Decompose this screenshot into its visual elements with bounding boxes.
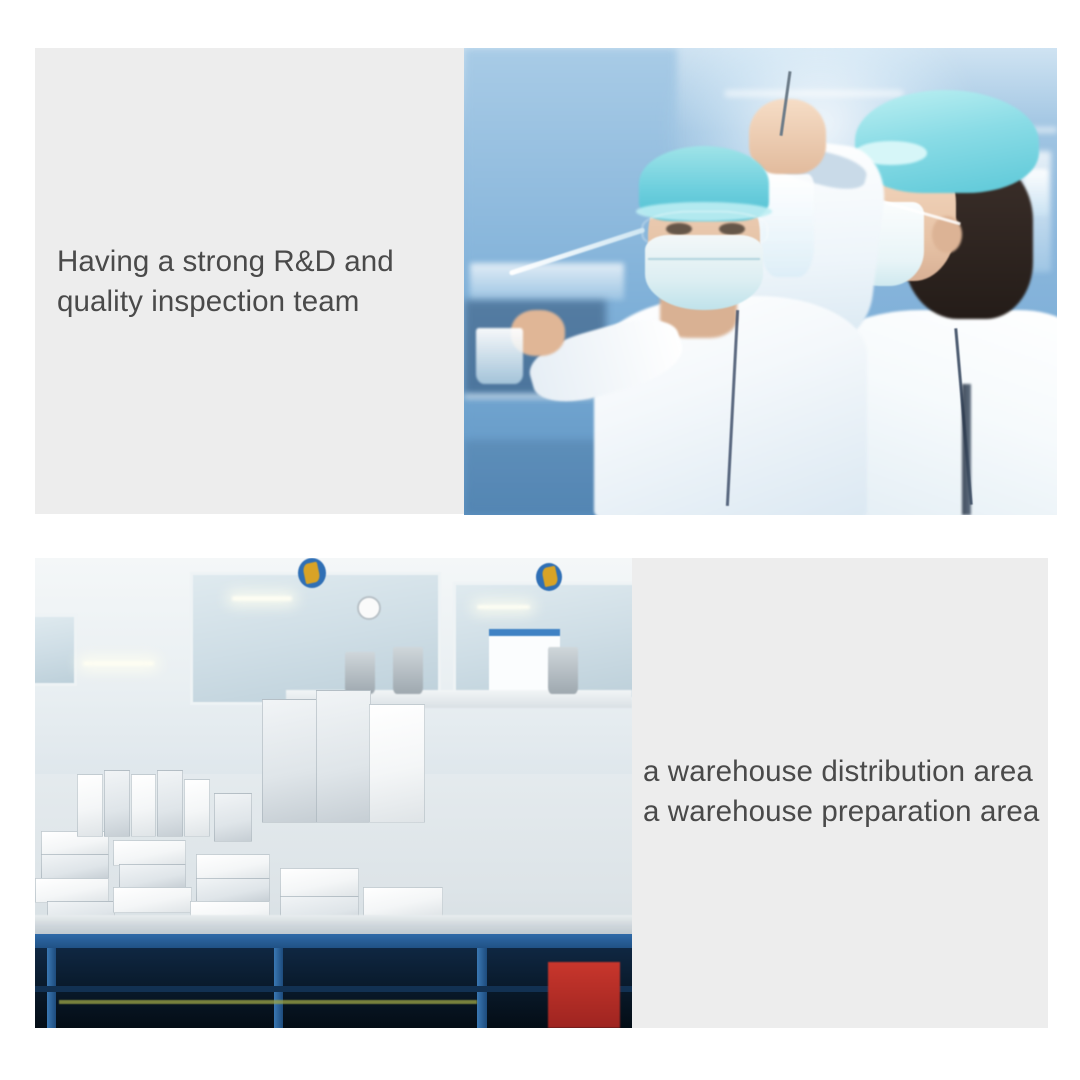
ceiling-light-b — [83, 661, 155, 666]
cleanroom-window-far-left — [35, 614, 77, 686]
steel-pot-a — [345, 652, 375, 694]
carton-6 — [119, 864, 187, 890]
wall-clock — [357, 596, 381, 620]
carton-upright-b — [104, 770, 130, 838]
slide-canvas: Having a strong R&D and quality inspecti… — [0, 0, 1080, 1080]
carton-upright-e — [184, 779, 210, 837]
table-shelf-strip — [59, 1000, 477, 1004]
ceiling-light-c — [477, 605, 531, 609]
caption-rnd: Having a strong R&D and quality inspecti… — [57, 242, 394, 322]
carton-bottle-group — [214, 793, 252, 842]
carton-upright-d — [157, 770, 183, 838]
carton-2 — [41, 854, 109, 880]
table-cross-rail — [35, 986, 632, 992]
carton-stack-back-3 — [369, 704, 425, 824]
carton-8 — [196, 854, 270, 880]
carton-9 — [196, 878, 270, 904]
carton-stack-back-1 — [262, 699, 318, 823]
red-bin — [548, 962, 620, 1028]
carton-13 — [363, 887, 443, 917]
steel-pot-c — [548, 647, 578, 694]
carton-11 — [280, 868, 360, 898]
lab-shelf-upper — [725, 90, 903, 97]
lab-stand-pole — [962, 384, 971, 515]
caption-rnd-line1: Having a strong R&D and — [57, 245, 394, 278]
technician-a-face-mask — [645, 235, 764, 310]
ceiling-light-a — [232, 596, 292, 601]
technician-a-eye-left — [666, 223, 692, 235]
carton-upright-a — [77, 774, 103, 837]
carton-5 — [113, 840, 187, 866]
lab-bench-left — [470, 263, 624, 300]
steel-pot-b — [393, 647, 423, 694]
safety-sign-left — [298, 558, 326, 588]
photo-warehouse-packing — [35, 558, 632, 1028]
photo-lab-inspection — [464, 48, 1057, 515]
caption-warehouse-line2: a warehouse preparation area — [643, 795, 1039, 828]
technician-a-mask-pleat — [648, 258, 761, 260]
caption-rnd-line2: quality inspection team — [57, 285, 359, 318]
carton-3 — [35, 878, 109, 904]
carton-stack-back-2 — [316, 690, 372, 824]
caption-warehouse: a warehouse distribution area a warehous… — [643, 752, 1039, 832]
technician-b-hand — [749, 99, 826, 174]
lab-beaker — [476, 328, 523, 384]
carton-7 — [113, 887, 193, 913]
caption-warehouse-line1: a warehouse distribution area — [643, 755, 1033, 788]
carton-upright-c — [131, 774, 157, 837]
